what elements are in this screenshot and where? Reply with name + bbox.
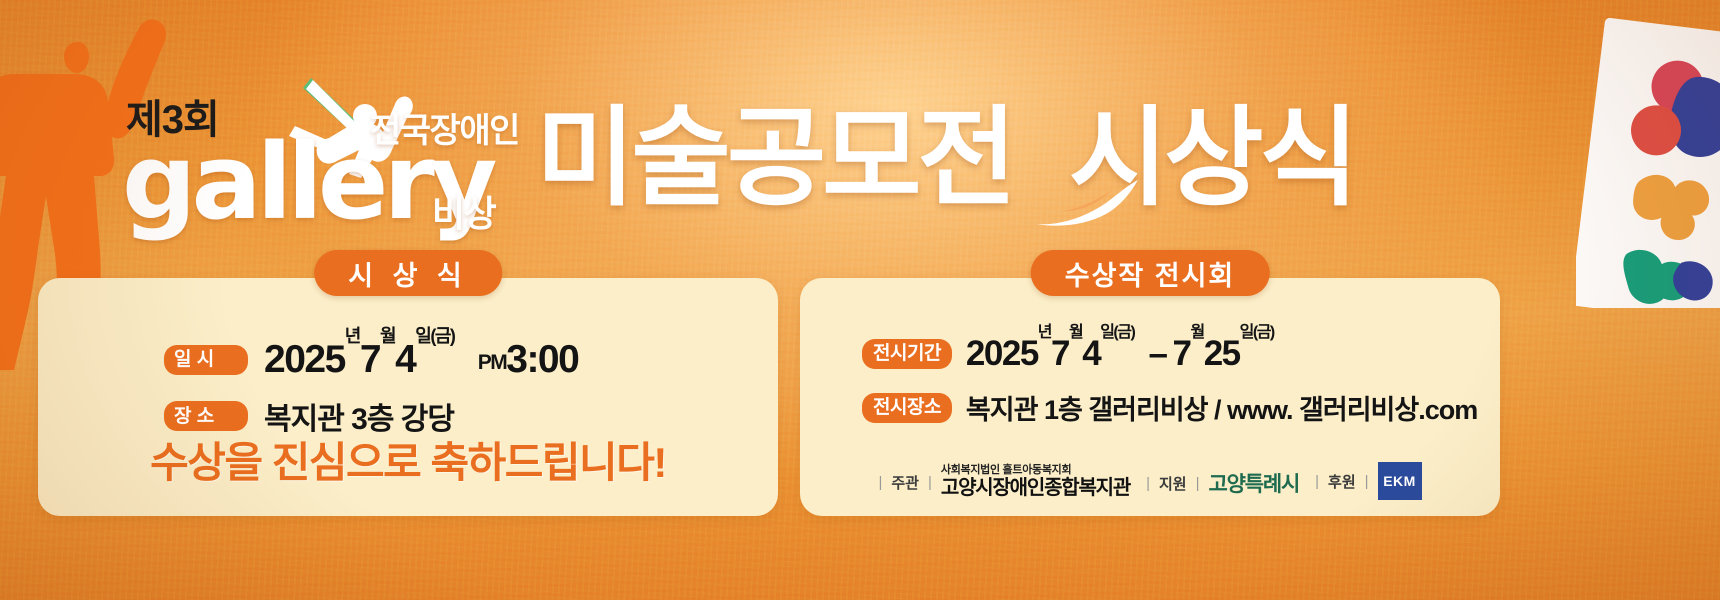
venue-label-chip: 전시장소: [862, 393, 952, 423]
datetime-label-chip: 일 시: [164, 345, 248, 375]
sponsor-host-names: 사회복지법인 홀트아동복지회 고양시장애인종합복지관: [941, 464, 1130, 500]
page-title: 미술공모전시상식: [536, 104, 1355, 212]
ceremony-datetime-row: 일 시 2025년7월4일(금) PM3:00: [164, 340, 578, 379]
sponsor-host-name-large: 고양시장애인종합복지관: [941, 477, 1130, 500]
place-label-chip: 장 소: [164, 401, 248, 431]
period-end-day-unit: 일(금): [1240, 324, 1274, 341]
exhibition-period-row: 전시기간 2025년7월4일(금) –7월25일(금): [862, 336, 1274, 371]
sponsor-host-name-small: 사회복지법인 홀트아동복지회: [941, 464, 1071, 477]
venue-value: 복지관 1층 갤러리비상 / www. 갤러리비상.com: [966, 388, 1477, 427]
period-value: 2025년7월4일(금) –7월25일(금): [966, 336, 1274, 371]
period-start-day-unit: 일(금): [1100, 324, 1134, 341]
period-end-month: 7: [1173, 334, 1191, 373]
divider: |: [928, 474, 932, 491]
datetime-year: 2025: [264, 338, 345, 381]
period-label-chip: 전시기간: [862, 339, 952, 369]
datetime-ampm: PM: [478, 351, 507, 374]
ekm-logo: EKM: [1378, 462, 1422, 500]
divider: |: [1315, 473, 1319, 490]
poster-header: 제3회 전국장애인 gallery 비상 미술공모전시상식: [0, 0, 1720, 262]
sponsor-support-name: 고양특례시: [1209, 468, 1300, 498]
period-end-day: 25: [1204, 334, 1240, 373]
divider: |: [878, 474, 882, 491]
exhibition-card: 수상작 전시회 전시기간 2025년7월4일(금) –7월25일(금) 전시장소…: [800, 278, 1500, 516]
venue-label-text: 전시장소: [873, 398, 941, 417]
venue-value-plain: 복지관 1층: [966, 395, 1088, 425]
datetime-year-unit: 년: [345, 326, 360, 346]
headline-left: 미술공모전: [536, 97, 1013, 218]
datetime-day-unit: 일(금): [415, 326, 454, 346]
period-year: 2025: [966, 334, 1038, 373]
divider: |: [1365, 473, 1369, 490]
sponsor-host-key: 주관: [891, 472, 919, 493]
venue-separator: /: [1208, 395, 1228, 425]
period-year-unit: 년: [1038, 324, 1051, 341]
sponsor-support: | 지원 | 고양특례시: [1146, 468, 1299, 500]
period-label-text: 전시기간: [873, 344, 941, 363]
divider: |: [1146, 475, 1150, 492]
datetime-month-unit: 월: [380, 326, 395, 346]
sponsor-host: | 주관 | 사회복지법인 홀트아동복지회 고양시장애인종합복지관: [878, 464, 1130, 500]
datetime-day: 4: [395, 338, 415, 381]
datetime-label-text: 일 시: [174, 350, 214, 369]
venue-value-bold: 갤러리비상: [1088, 395, 1207, 425]
period-start-month: 7: [1051, 334, 1069, 373]
period-start-month-unit: 월: [1069, 324, 1082, 341]
congratulations-message: 수상을 진심으로 축하드립니다!: [150, 429, 666, 490]
sponsor-support-key: 지원: [1159, 473, 1187, 494]
ceremony-title-badge: 시 상 식: [314, 250, 502, 296]
sponsor-patron-key: 후원: [1328, 471, 1356, 492]
datetime-time: 3:00: [506, 338, 578, 381]
exhibition-venue-row: 전시장소 복지관 1층 갤러리비상 / www. 갤러리비상.com: [862, 388, 1477, 427]
leaf-brushstroke-icon: [1032, 178, 1140, 228]
period-start-day: 4: [1082, 334, 1100, 373]
ceremony-card: 시 상 식 일 시 2025년7월4일(금) PM3:00 장 소 복지관 3층…: [38, 278, 778, 516]
venue-url[interactable]: www. 갤러리비상.com: [1227, 395, 1477, 425]
exhibition-title-badge: 수상작 전시회: [1031, 250, 1270, 296]
datetime-month: 7: [360, 338, 380, 381]
event-banner: 제3회 전국장애인 gallery 비상 미술공모전시상식: [0, 0, 1720, 600]
place-label-text: 장 소: [174, 407, 214, 426]
sponsor-patron: | 후원 | EKM: [1315, 462, 1421, 500]
sponsor-row: | 주관 | 사회복지법인 홀트아동복지회 고양시장애인종합복지관 | 지원 |…: [800, 462, 1500, 500]
datetime-value: 2025년7월4일(금) PM3:00: [264, 340, 578, 379]
period-end-month-unit: 월: [1190, 324, 1203, 341]
gallery-logo-group: 제3회 전국장애인 gallery 비상: [122, 96, 552, 236]
divider: |: [1196, 475, 1200, 492]
logo-brand-ko: 비상: [432, 196, 495, 232]
period-dash: –: [1149, 334, 1167, 373]
